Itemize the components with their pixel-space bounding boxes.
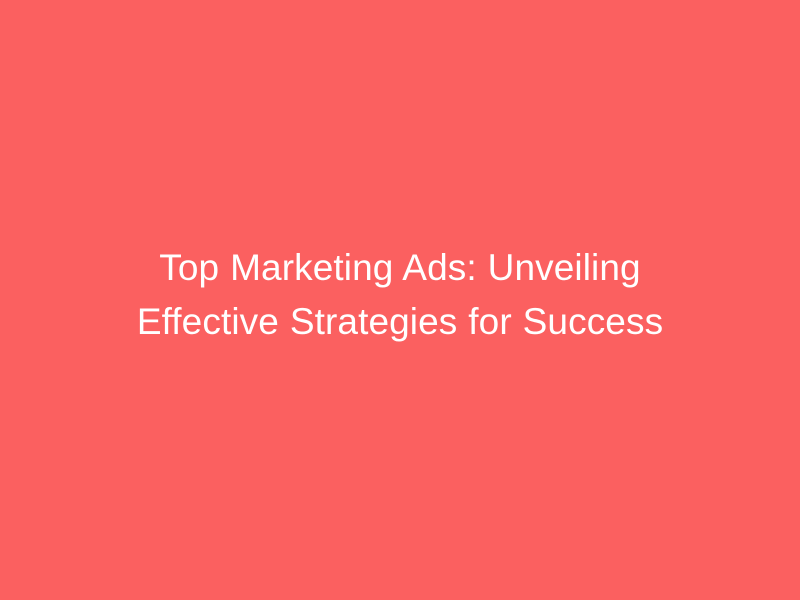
page-title: Top Marketing Ads: Unveiling Effective S…	[110, 241, 690, 348]
hero-content: Top Marketing Ads: Unveiling Effective S…	[100, 241, 700, 348]
hero-card: Top Marketing Ads: Unveiling Effective S…	[0, 0, 800, 600]
